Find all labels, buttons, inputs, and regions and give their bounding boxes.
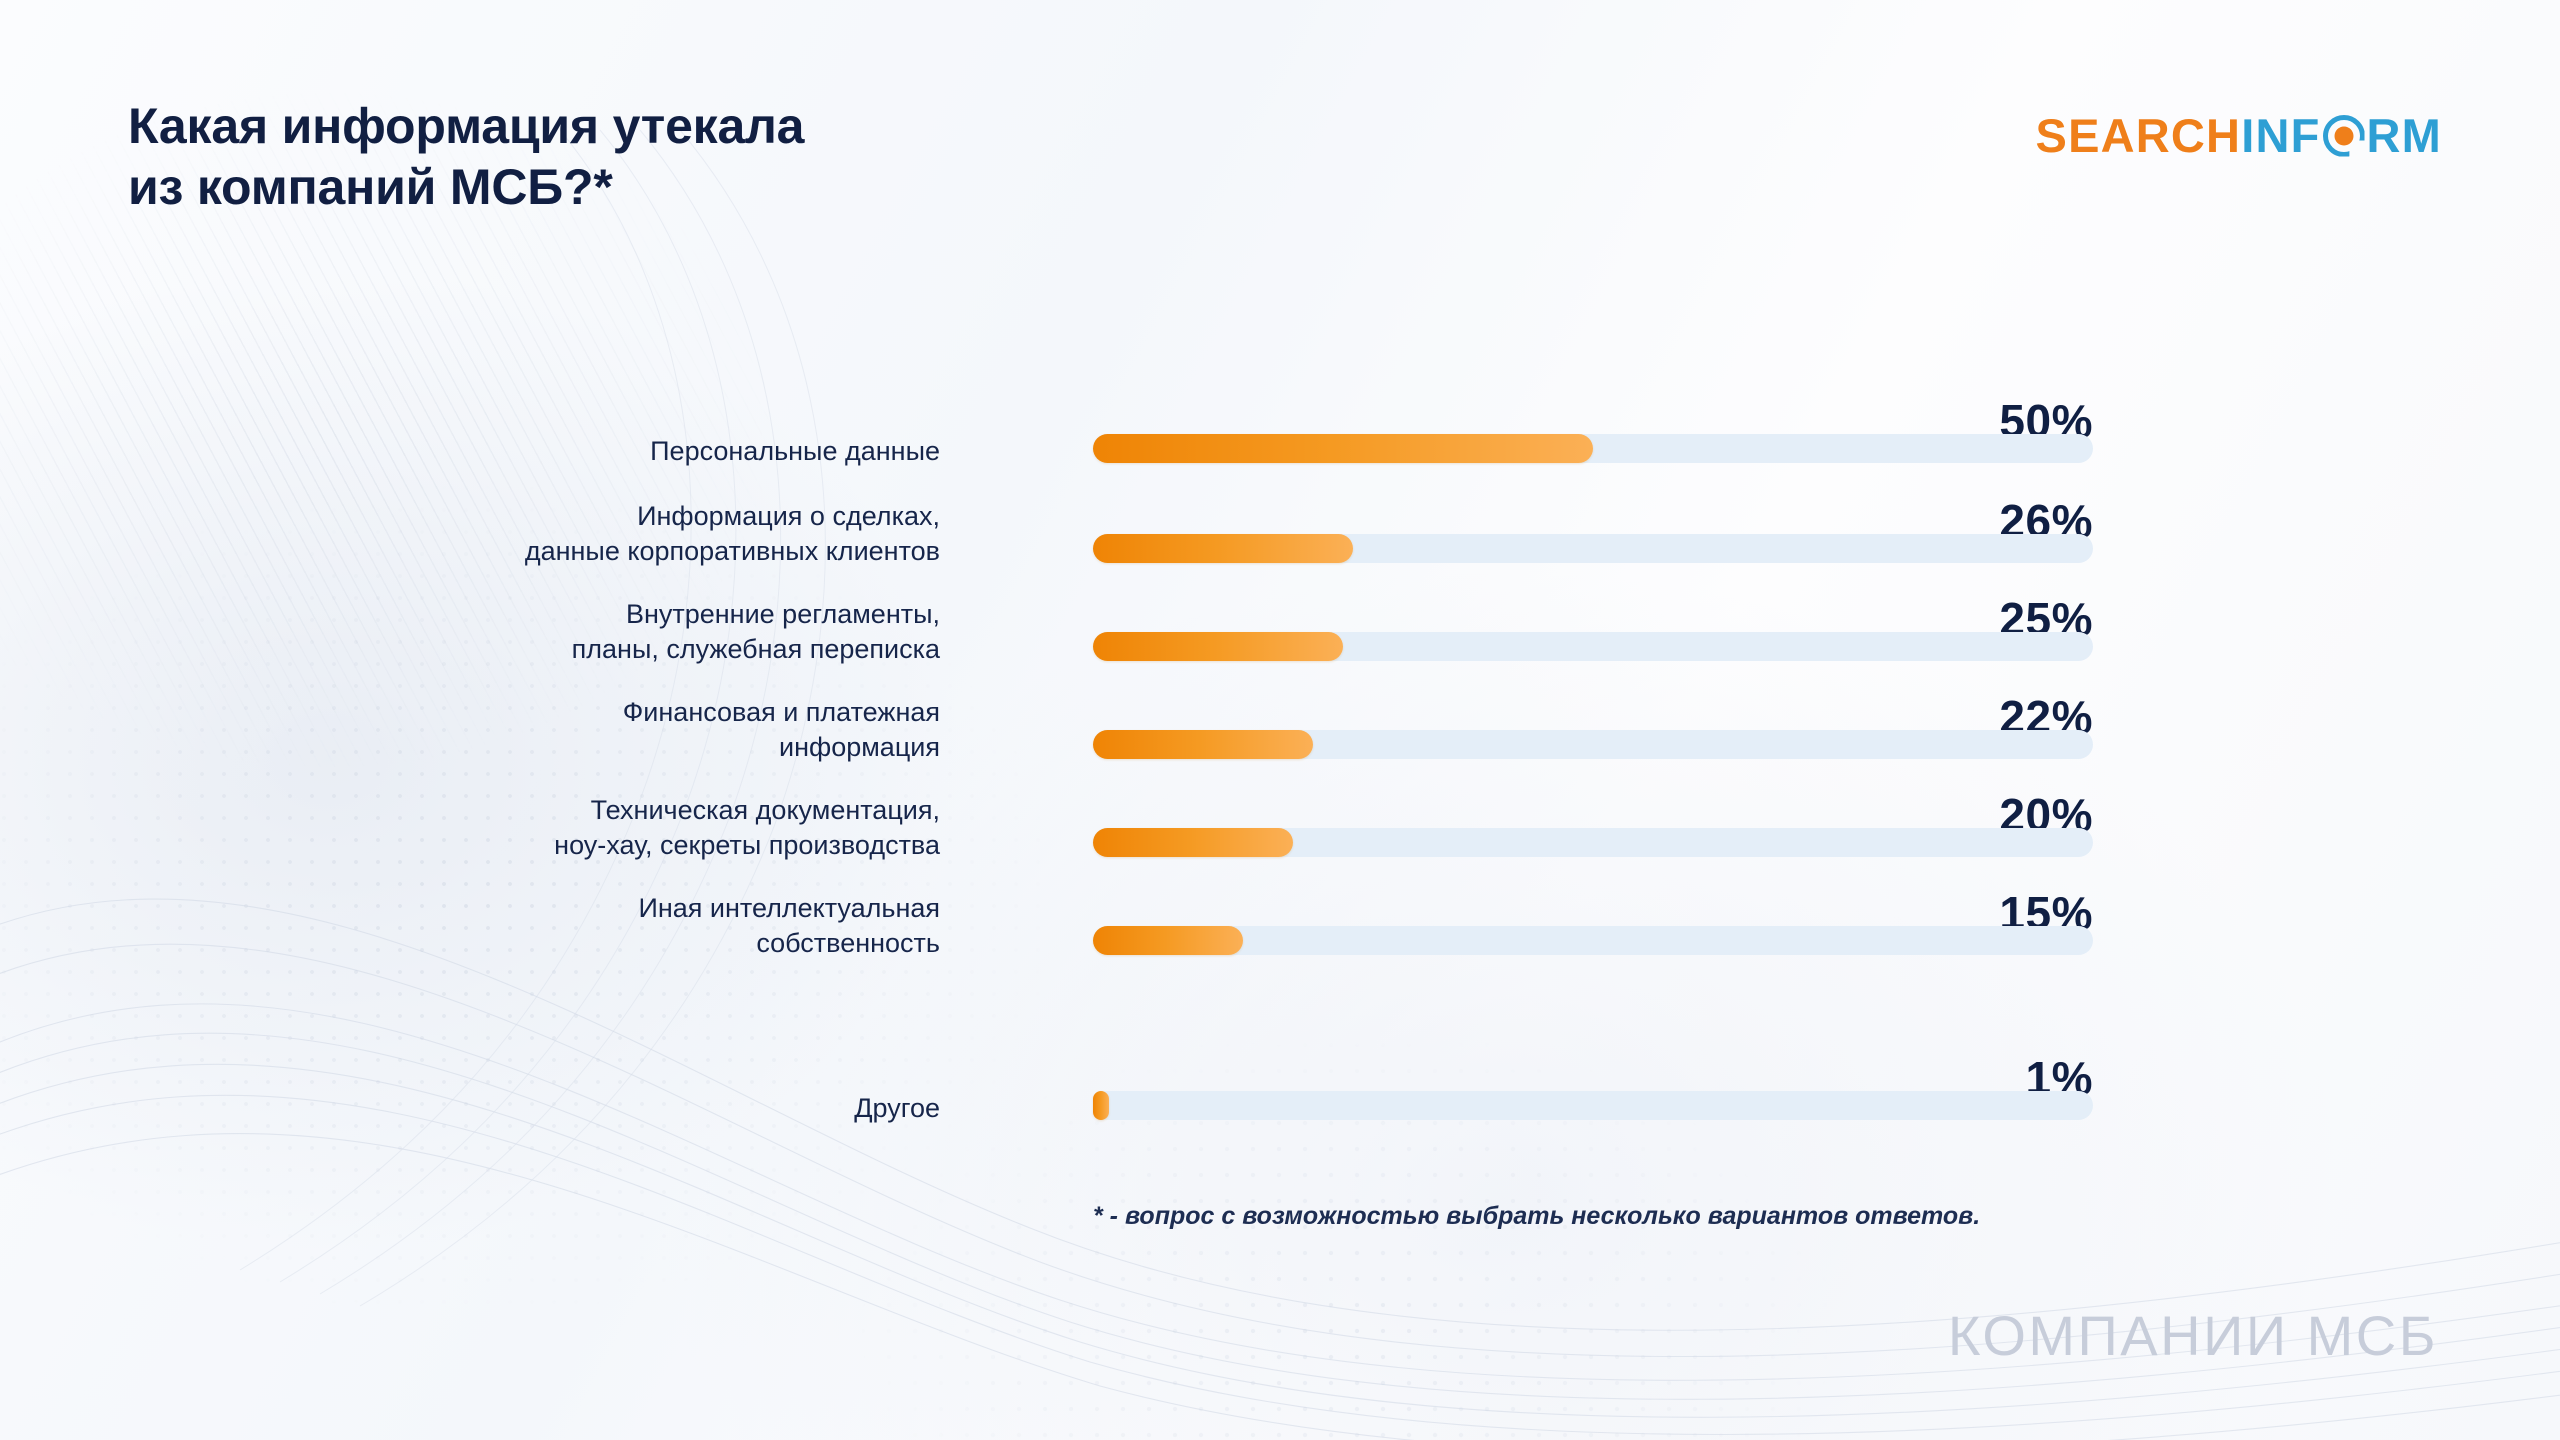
bar-category-label: Информация о сделках, данные корпоративн… xyxy=(120,499,940,568)
bar-fill xyxy=(1093,434,1593,463)
bar-fill xyxy=(1093,632,1343,661)
bar-category-label: Персональные данные xyxy=(120,434,940,469)
bar-track xyxy=(1093,926,2093,955)
bar-fill xyxy=(1093,926,1243,955)
bar-category-label: Внутренние регламенты, планы, служебная … xyxy=(120,597,940,666)
bar-fill xyxy=(1093,1091,1109,1120)
bar-fill xyxy=(1093,730,1313,759)
bar-category-label: Иная интеллектуальная собственность xyxy=(120,891,940,960)
bar-fill xyxy=(1093,534,1353,563)
infographic-canvas: Какая информация утекала из компаний МСБ… xyxy=(0,0,2560,1440)
bar-category-label: Другое xyxy=(120,1091,940,1126)
watermark-label: КОМПАНИИ МСБ xyxy=(1948,1303,2438,1368)
bar-category-label: Финансовая и платежная информация xyxy=(120,695,940,764)
bar-track xyxy=(1093,434,2093,463)
bar-track xyxy=(1093,730,2093,759)
bar-track xyxy=(1093,534,2093,563)
bar-track xyxy=(1093,828,2093,857)
bar-track xyxy=(1093,632,2093,661)
bar-category-label: Техническая документация, ноу-хау, секре… xyxy=(120,793,940,862)
footnote-text: * - вопрос с возможностью выбрать нескол… xyxy=(1093,1202,1980,1231)
bar-track xyxy=(1093,1091,2093,1120)
bar-fill xyxy=(1093,828,1293,857)
